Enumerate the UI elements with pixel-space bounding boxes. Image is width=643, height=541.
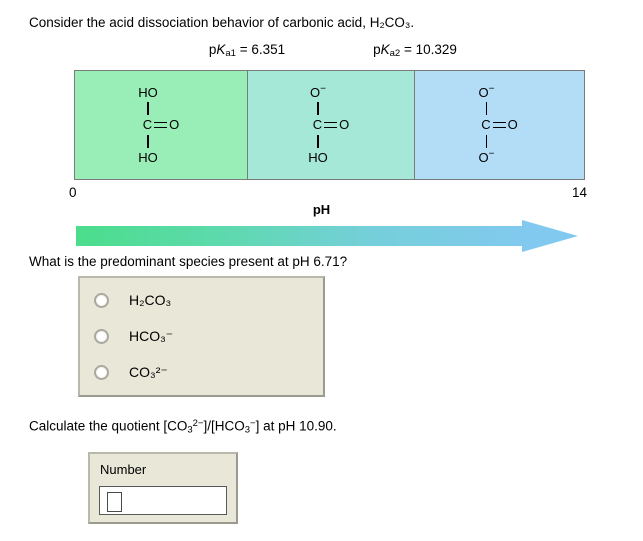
option-label-hco3: HCO₃⁻ bbox=[129, 328, 173, 345]
pka1-value: = 6.351 bbox=[240, 42, 285, 57]
bottom-group-label: HO bbox=[88, 150, 208, 165]
bond-top bbox=[486, 102, 488, 115]
bond-bottom bbox=[147, 135, 149, 148]
intro-text: Consider the acid dissociation behavior … bbox=[29, 15, 414, 30]
number-input-field[interactable] bbox=[99, 486, 227, 515]
question2-answer-panel: Number bbox=[88, 452, 238, 524]
question1-prompt: What is the predominant species present … bbox=[29, 254, 347, 269]
bond-bottom bbox=[317, 135, 319, 148]
top-charge: − bbox=[320, 84, 326, 95]
ph-axis-label: pH bbox=[0, 202, 643, 217]
arrow-shaft bbox=[76, 226, 524, 246]
pka1-subscript: a1 bbox=[225, 48, 236, 59]
structure-h2co3: HO C O HO bbox=[101, 85, 221, 165]
structure-co3: O− C O O− bbox=[440, 85, 560, 165]
bond-top bbox=[317, 102, 319, 115]
question1-options-panel: H₂CO₃ HCO₃⁻ CO₃²⁻ bbox=[78, 276, 325, 397]
structure-hco3: O− C O HO bbox=[271, 85, 391, 165]
carbon-atom: C bbox=[313, 117, 322, 133]
bond-bottom bbox=[486, 135, 488, 148]
ph-scale-min-label: 0 bbox=[69, 185, 77, 200]
top-group-label: O− bbox=[427, 85, 547, 100]
number-field-label: Number bbox=[100, 462, 146, 477]
top-charge: − bbox=[489, 84, 495, 95]
oxygen-atom: O bbox=[508, 117, 518, 133]
oxygen-atom: O bbox=[339, 117, 349, 133]
double-bond-icon bbox=[493, 122, 506, 128]
arrow-head-icon bbox=[522, 220, 578, 252]
ph-scale-max-label: 14 bbox=[572, 185, 587, 200]
carbonyl-row: C O bbox=[440, 117, 560, 133]
bottom-charge: − bbox=[489, 149, 495, 160]
radio-button-h2co3[interactable] bbox=[94, 293, 109, 308]
option-row-h2co3[interactable]: H₂CO₃ bbox=[94, 287, 171, 313]
bond-top bbox=[147, 102, 149, 115]
bottom-group-label: HO bbox=[258, 150, 378, 165]
pka1-label: pKa1 = 6.351 bbox=[209, 42, 285, 59]
option-row-co3[interactable]: CO₃²⁻ bbox=[94, 359, 168, 385]
radio-button-co3[interactable] bbox=[94, 365, 109, 380]
species-panel-co3: O− C O O− bbox=[415, 71, 584, 179]
carbon-atom: C bbox=[143, 117, 152, 133]
species-panel-h2co3: HO C O HO bbox=[75, 71, 248, 179]
carbon-atom: C bbox=[481, 117, 490, 133]
species-diagram: HO C O HO O− C O HO O− bbox=[74, 70, 585, 180]
option-label-co3: CO₃²⁻ bbox=[129, 364, 168, 381]
question2-prompt: Calculate the quotient [CO32−]/[HCO3−] a… bbox=[29, 418, 337, 435]
radio-button-hco3[interactable] bbox=[94, 329, 109, 344]
pka2-value: = 10.329 bbox=[404, 42, 457, 57]
pka2-subscript: a2 bbox=[390, 48, 401, 59]
carbonyl-row: C O bbox=[271, 117, 391, 133]
option-label-h2co3: H₂CO₃ bbox=[129, 292, 171, 308]
double-bond-icon bbox=[154, 122, 167, 128]
species-panel-hco3: O− C O HO bbox=[248, 71, 415, 179]
double-bond-icon bbox=[324, 122, 337, 128]
pka-label-row: pKa1 = 6.351 pKa2 = 10.329 bbox=[74, 42, 585, 62]
top-group-label: HO bbox=[88, 85, 208, 100]
carbonyl-row: C O bbox=[101, 117, 221, 133]
pka2-label: pKa2 = 10.329 bbox=[373, 42, 457, 59]
oxygen-atom: O bbox=[169, 117, 179, 133]
text-caret-icon bbox=[107, 492, 122, 512]
option-row-hco3[interactable]: HCO₃⁻ bbox=[94, 323, 173, 349]
ph-gradient-arrow bbox=[76, 220, 588, 252]
bottom-group-label: O− bbox=[427, 150, 547, 165]
top-group-label: O− bbox=[258, 85, 378, 100]
